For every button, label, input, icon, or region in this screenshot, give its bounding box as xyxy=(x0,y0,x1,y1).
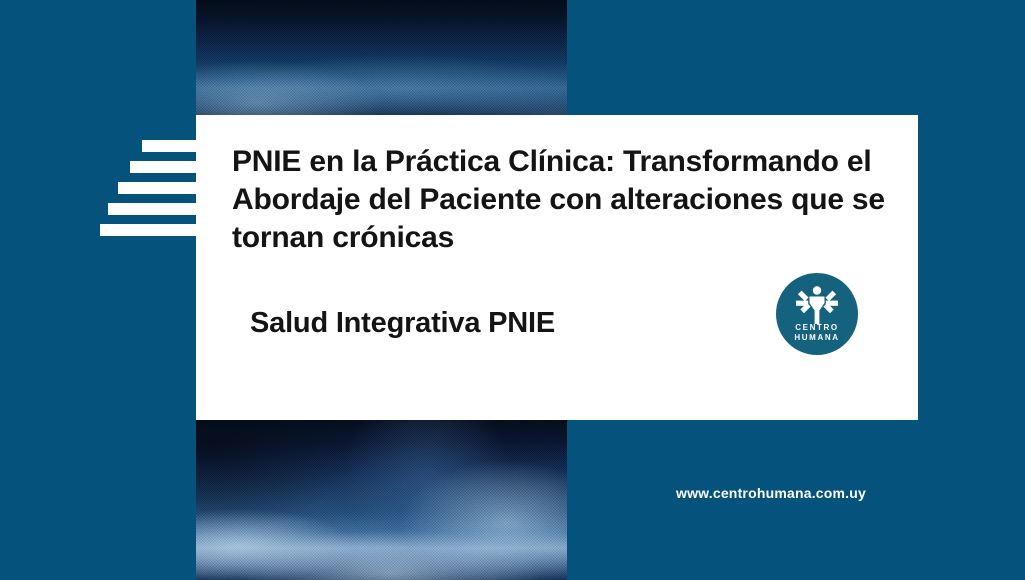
website-url: www.centrohumana.com.uy xyxy=(676,485,866,501)
presentation-slide: PNIE en la Práctica Clínica: Transforman… xyxy=(0,0,1025,580)
logo-wordmark-line1: CENTRO xyxy=(776,323,858,333)
photo-strip-top xyxy=(196,0,567,116)
human-figure-icon xyxy=(788,283,846,327)
logo-wordmark: CENTRO HUMANA xyxy=(776,323,858,343)
stair-bar-1 xyxy=(142,140,196,152)
centro-humana-logo: CENTRO HUMANA xyxy=(776,273,858,355)
stair-bars-decoration xyxy=(100,140,196,238)
stair-bar-5 xyxy=(100,224,196,236)
logo-wordmark-line2: HUMANA xyxy=(776,333,858,343)
page-subtitle: Salud Integrativa PNIE xyxy=(250,307,555,340)
content-card: PNIE en la Práctica Clínica: Transforman… xyxy=(196,115,918,420)
stair-bar-3 xyxy=(118,182,196,194)
title-block: PNIE en la Práctica Clínica: Transforman… xyxy=(232,143,892,257)
stair-bar-4 xyxy=(108,203,196,215)
photo-bottom-grain-fine xyxy=(196,420,567,580)
stair-bar-2 xyxy=(130,161,196,173)
page-title: PNIE en la Práctica Clínica: Transforman… xyxy=(232,143,892,257)
photo-top-grain-fine xyxy=(196,0,567,116)
photo-strip-bottom xyxy=(196,420,567,580)
